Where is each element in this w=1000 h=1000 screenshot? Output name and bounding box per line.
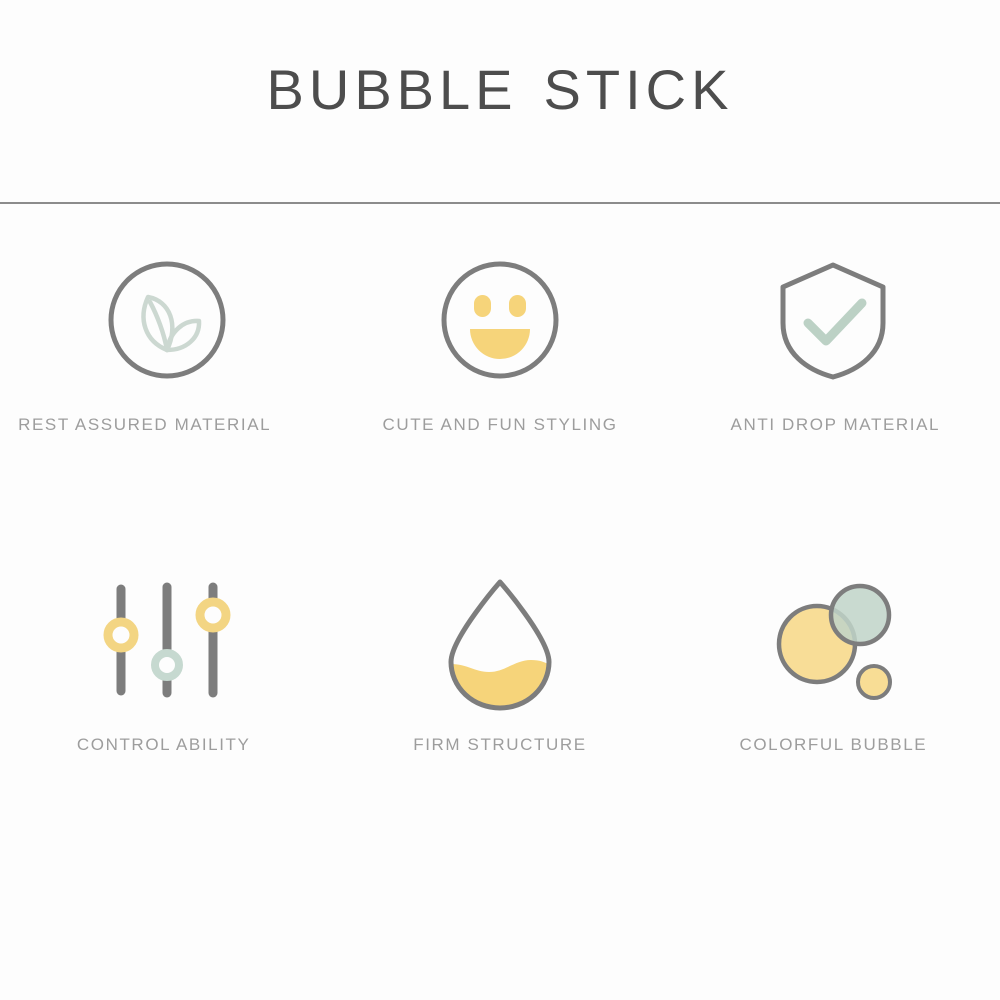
- feature-label: CONTROL ABILITY: [77, 735, 251, 755]
- icon-container: [437, 545, 563, 735]
- feature-label: FIRM STRUCTURE: [413, 735, 587, 755]
- feature-label: CUTE AND FUN STYLING: [382, 415, 617, 435]
- feature-label: REST ASSURED MATERIAL: [18, 415, 271, 435]
- icon-container: [104, 225, 230, 415]
- feature-card-rest-assured-material: REST ASSURED MATERIAL: [0, 225, 333, 545]
- feature-card-cute-and-fun-styling: CUTE AND FUN STYLING: [333, 225, 666, 545]
- header-divider: [0, 202, 1000, 204]
- sliders-icon: [104, 577, 230, 703]
- page-title: BUBBLESTICK: [0, 57, 1000, 122]
- feature-card-colorful-bubble: COLORFUL BUBBLE: [667, 545, 1000, 865]
- feature-label: ANTI DROP MATERIAL: [731, 415, 941, 435]
- leaf-circle-icon: [104, 257, 230, 383]
- icon-container: [437, 225, 563, 415]
- feature-card-anti-drop-material: ANTI DROP MATERIAL: [667, 225, 1000, 545]
- title-word-stick: STICK: [544, 58, 734, 121]
- feature-grid: REST ASSURED MATERIAL CUTE AND FUN STYLI…: [0, 225, 1000, 925]
- shield-check-icon: [770, 257, 896, 383]
- header-banner: BUBBLESTICK: [0, 0, 1000, 204]
- icon-container: [765, 545, 901, 735]
- water-droplet-icon: [437, 572, 563, 708]
- feature-card-firm-structure: FIRM STRUCTURE: [333, 545, 666, 865]
- icon-container: [770, 225, 896, 415]
- bubbles-icon: [765, 572, 901, 708]
- feature-label: COLORFUL BUBBLE: [739, 735, 927, 755]
- feature-card-control-ability: CONTROL ABILITY: [0, 545, 333, 865]
- smiley-face-icon: [437, 257, 563, 383]
- icon-container: [104, 545, 230, 735]
- title-word-bubble: BUBBLE: [267, 58, 518, 121]
